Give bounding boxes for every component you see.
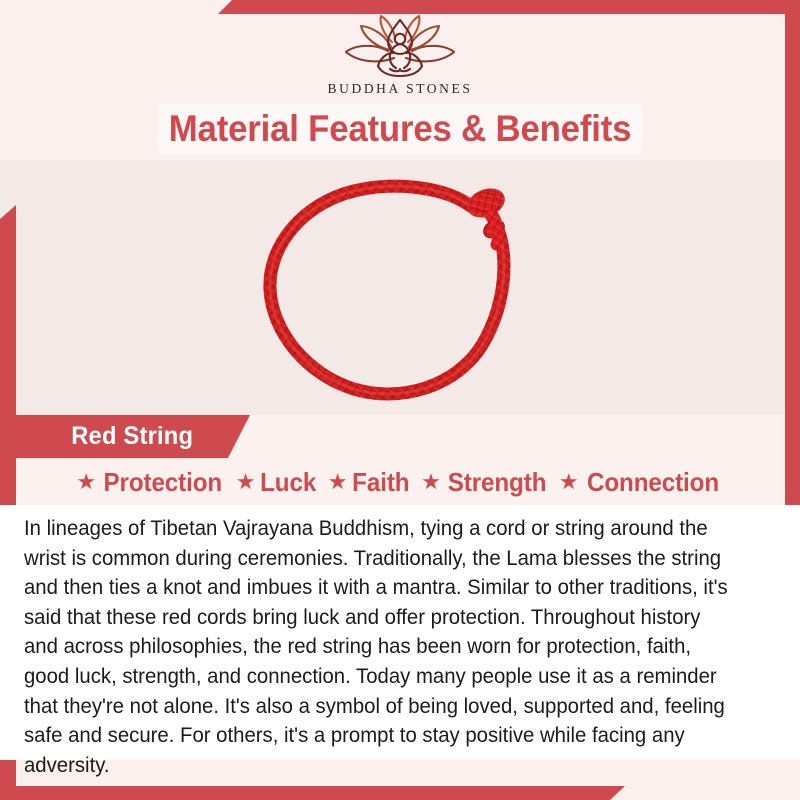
- feature-item-luck: ★ Luck: [236, 467, 319, 498]
- page-title-band: Material Features & Benefits: [158, 104, 642, 154]
- product-name-banner: Red String: [0, 415, 250, 458]
- feature-item-strength: ★ Strength: [421, 467, 550, 498]
- feature-label: Luck: [261, 467, 317, 498]
- star-icon: ★: [559, 471, 579, 493]
- lotus-meditation-icon: [334, 14, 466, 78]
- star-icon: ★: [236, 471, 256, 493]
- description-text: In lineages of Tibetan Vajrayana Buddhis…: [24, 514, 735, 780]
- feature-item-faith: ★ Faith: [328, 467, 412, 498]
- feature-label: Protection: [104, 467, 223, 498]
- feature-item-connection: ★ Connection: [559, 467, 724, 498]
- feature-label: Connection: [587, 467, 719, 498]
- star-icon: ★: [76, 471, 96, 493]
- feature-item-protection: ★ Protection: [76, 467, 226, 498]
- feature-label: Faith: [353, 467, 410, 498]
- feature-list: ★ Protection ★ Luck ★ Faith ★ Strength ★…: [0, 464, 800, 500]
- red-braided-cord-bracelet-icon: [250, 163, 550, 413]
- decorative-bottom-bar: [0, 786, 625, 800]
- material-features-poster: BUDDHA STONES Material Features & Benefi…: [0, 0, 800, 800]
- description-area: In lineages of Tibetan Vajrayana Buddhis…: [0, 505, 800, 760]
- decorative-top-bar: [218, 0, 800, 14]
- star-icon: ★: [328, 471, 348, 493]
- product-name: Red String: [71, 422, 193, 451]
- brand-name: BUDDHA STONES: [328, 81, 473, 97]
- page-title: Material Features & Benefits: [169, 108, 631, 150]
- product-image: [0, 160, 800, 415]
- feature-label: Strength: [448, 467, 547, 498]
- star-icon: ★: [421, 471, 441, 493]
- brand-logo: BUDDHA STONES: [0, 14, 800, 97]
